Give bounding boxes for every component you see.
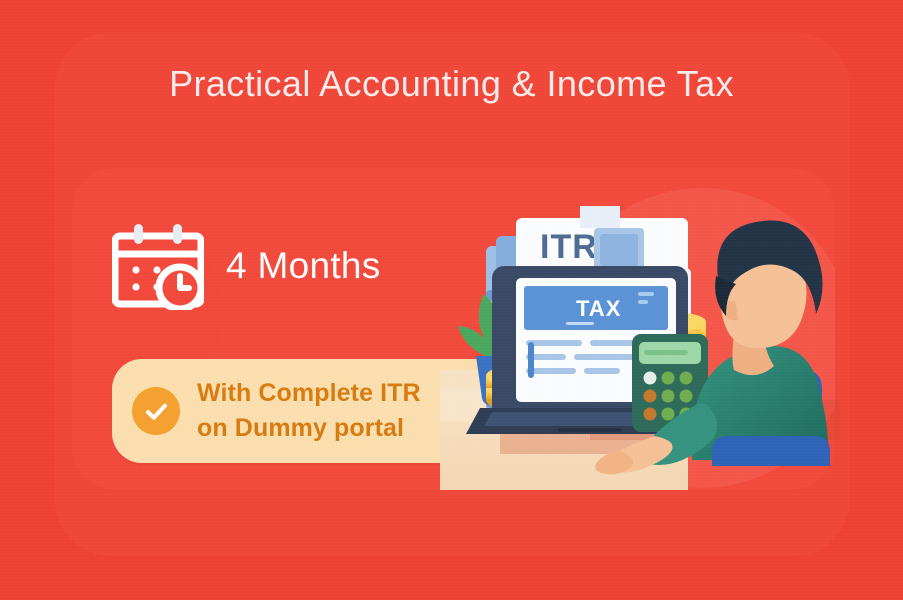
course-banner: Practical Accounting & Income Tax (0, 0, 903, 600)
check-circle-icon (132, 387, 180, 435)
highlight-text: With Complete ITR on Dummy portal (197, 376, 421, 447)
chair-seat (712, 436, 830, 466)
accountant-filing-tax-illustration: ITR (440, 150, 860, 490)
calendar-clock-icon (112, 222, 204, 310)
highlight-line-2: on Dummy portal (197, 411, 421, 447)
screen-label: TAX (576, 296, 621, 321)
course-duration: 4 Months (112, 222, 381, 310)
duration-label: 4 Months (226, 245, 381, 287)
page-title: Practical Accounting & Income Tax (0, 63, 903, 105)
document-label: ITR (540, 228, 598, 266)
highlight-line-1: With Complete ITR (197, 376, 421, 412)
